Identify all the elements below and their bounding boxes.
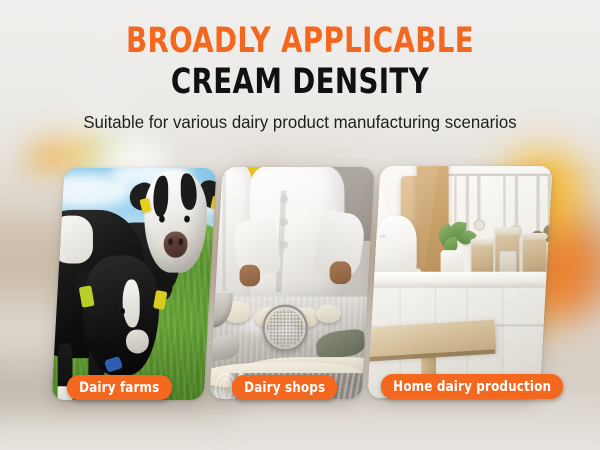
card-dairy-farms[interactable] — [52, 168, 217, 400]
subtitle: Suitable for various dairy product manuf… — [12, 112, 588, 133]
chef-hand-left — [239, 265, 259, 286]
canister-lid — [494, 227, 520, 235]
uniform-fold — [223, 172, 226, 290]
card-home-dairy-photo — [368, 166, 553, 398]
cow-head — [83, 255, 160, 375]
cow-foreground — [52, 210, 176, 400]
card-home-dairy-production[interactable] — [368, 166, 553, 398]
badge-home-dairy-production[interactable]: Home dairy production — [381, 374, 564, 399]
chef-primary — [243, 167, 350, 304]
promo-banner: BROADLY APPLICABLE CREAM DENSITY Suitabl… — [0, 0, 600, 450]
cow-ear-tag — [211, 196, 217, 211]
hanging-wooden-spoon — [548, 174, 551, 237]
headline-primary: BROADLY APPLICABLE — [36, 22, 564, 60]
cow-patch — [52, 216, 93, 264]
cow-nostril — [178, 239, 183, 245]
cow-muzzle — [126, 329, 149, 353]
back-countertop — [368, 271, 553, 287]
appliance-detail — [381, 236, 386, 238]
card-dairy-shops-photo — [210, 167, 375, 399]
badge-dairy-shops[interactable]: Dairy shops — [232, 375, 338, 400]
farm-scene — [52, 168, 217, 400]
uniform-button — [282, 196, 288, 202]
canister-lid — [521, 233, 547, 240]
canister-lid — [470, 239, 494, 245]
chef-hand-right — [329, 262, 350, 285]
dough-ball — [316, 304, 340, 323]
sieve — [263, 304, 308, 352]
shop-scene — [210, 167, 375, 399]
hanging-utensil — [478, 174, 481, 227]
cow-patch — [180, 174, 196, 211]
cow-blaze — [123, 279, 140, 327]
cow-ear-tag — [153, 290, 167, 310]
header-block: BROADLY APPLICABLE CREAM DENSITY Suitabl… — [0, 22, 600, 133]
sieve-mesh — [267, 309, 303, 347]
cow-eye — [184, 215, 190, 222]
kitchen-scene — [368, 166, 553, 398]
hanging-utensil — [515, 174, 518, 235]
card-dairy-shops[interactable] — [210, 167, 375, 399]
kitchen-appliance — [376, 216, 417, 274]
headline-secondary: CREAM DENSITY — [36, 62, 564, 102]
card-dairy-farms-photo — [52, 168, 217, 400]
badge-dairy-farms[interactable]: Dairy farms — [67, 375, 172, 400]
